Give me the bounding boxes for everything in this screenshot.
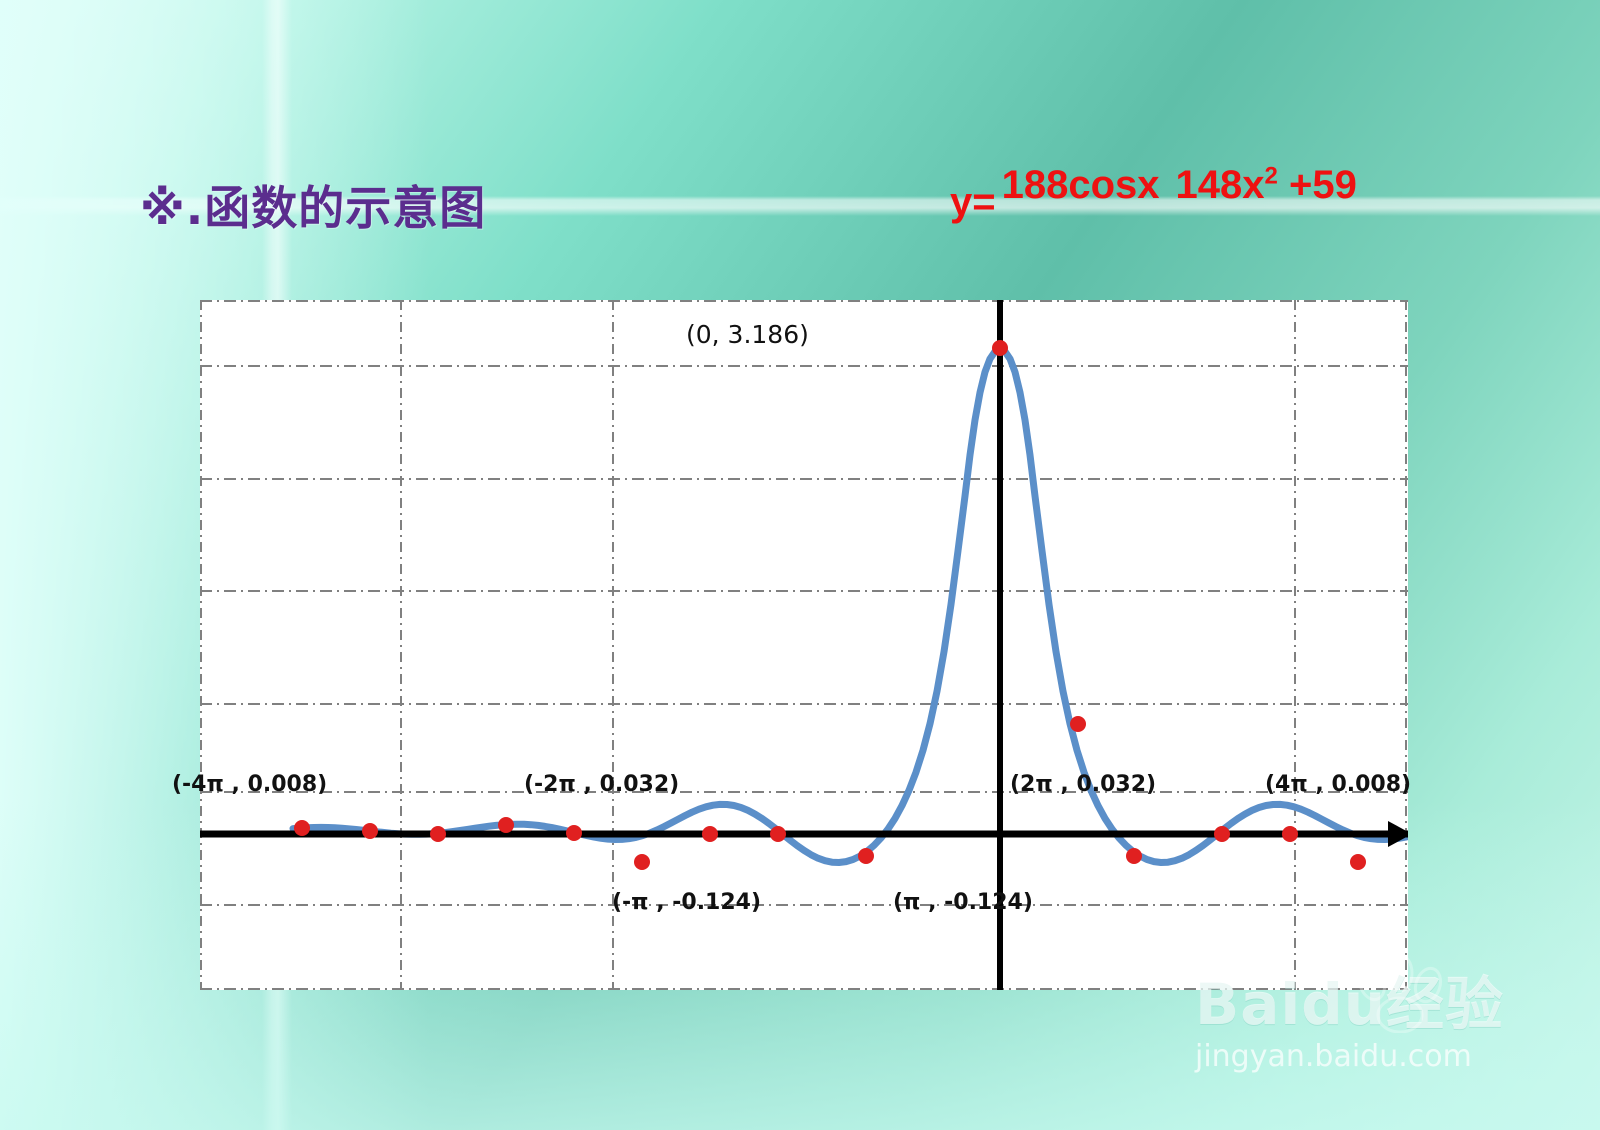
marker-point [294,820,310,836]
formula-denominator: 148x2 +59 [1170,161,1363,207]
marker-point [992,340,1008,356]
marker-point [1070,716,1086,732]
marker-point [498,817,514,833]
marker-point [634,854,650,870]
y-axis [987,300,1013,990]
marker-point [1126,848,1142,864]
baidu-watermark: Baidu经验 jingyan.baidu.com [1195,975,1590,1085]
label-pos-pi: (π , -0.124) [893,890,1033,915]
formula-denominator-exponent: 2 [1265,162,1278,189]
data-markers [294,340,1408,870]
function-curve [293,349,1406,863]
marker-point [702,826,718,842]
label-pos-4pi: (4π , 0.008) [1265,772,1411,797]
marker-point [362,823,378,839]
marker-point [1214,826,1230,842]
label-neg-2pi: (-2π , 0.032) [524,772,679,797]
label-neg-4pi: (-4π , 0.008) [172,772,327,797]
label-pos-2pi: (2π , 0.032) [1010,772,1156,797]
marker-point [1350,854,1366,870]
marker-point [430,826,446,842]
formula-block: y= 188cosx 148x2 +59 [950,148,1363,222]
peak-point-label: (0, 3.186) [686,320,809,349]
grid-vertical [201,300,1406,990]
formula-lhs: y= [950,148,996,222]
marker-point [770,826,786,842]
watermark-sub-text: jingyan.baidu.com [1195,1039,1590,1074]
marker-point [1282,826,1298,842]
marker-point [858,848,874,864]
marker-point [566,825,582,841]
formula-fraction: 188cosx 148x2 +59 [996,162,1363,207]
formula-denominator-base: 148x [1176,163,1265,207]
slide-background: ※.函数的示意图 y= 188cosx 148x2 +59 [0,0,1600,1130]
grid-horizontal [200,301,1408,989]
function-plot [200,300,1408,990]
formula-denominator-tail: +59 [1278,163,1357,207]
plot-svg [200,300,1408,990]
page-title: ※.函数的示意图 [140,172,486,238]
formula-numerator: 188cosx [996,163,1166,209]
label-neg-pi: (-π , -0.124) [612,890,761,915]
